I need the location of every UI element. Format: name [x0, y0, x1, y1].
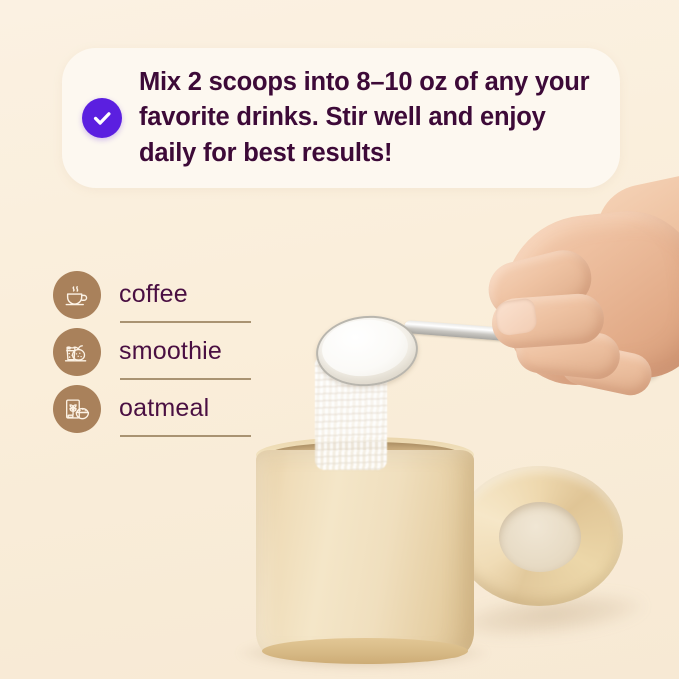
option-label-oatmeal: oatmeal — [119, 394, 209, 423]
mug-handle — [455, 466, 623, 606]
product-instruction-graphic: Mix 2 scoops into 8–10 oz of any your fa… — [0, 0, 679, 679]
smoothie-glass-icon — [53, 328, 101, 376]
option-row-coffee: coffee — [53, 266, 222, 323]
usage-options-list: coffee — [53, 266, 222, 437]
oatmeal-bowl-icon — [53, 385, 101, 433]
hand — [486, 196, 679, 406]
instruction-callout-card: Mix 2 scoops into 8–10 oz of any your fa… — [62, 48, 620, 188]
mug-body — [256, 450, 474, 658]
option-row-smoothie: smoothie — [53, 323, 222, 380]
coffee-cup-icon — [53, 271, 101, 319]
instruction-text: Mix 2 scoops into 8–10 oz of any your fa… — [139, 65, 598, 171]
option-label-coffee: coffee — [119, 280, 188, 309]
check-circle-icon — [82, 98, 122, 138]
option-row-oatmeal: oatmeal — [53, 380, 222, 437]
option-label-smoothie: smoothie — [119, 337, 222, 366]
thumb — [494, 297, 538, 336]
mug-base — [262, 638, 468, 664]
option-divider — [120, 435, 251, 437]
